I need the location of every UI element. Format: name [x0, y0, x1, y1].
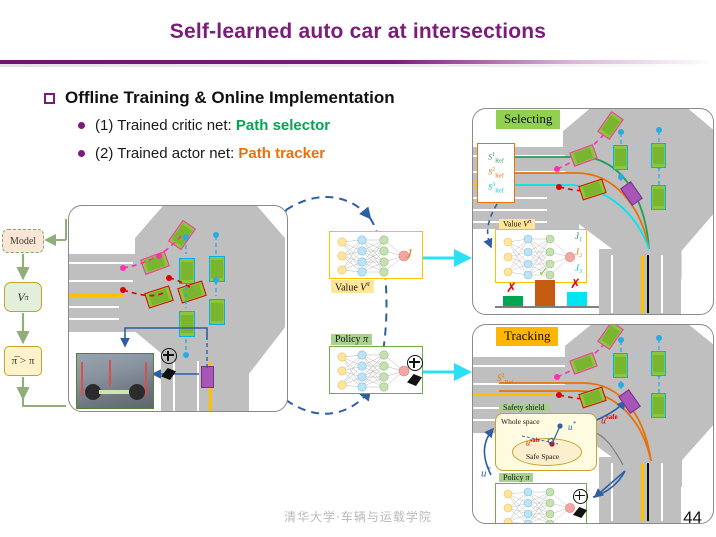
panel-selecting-label: Selecting: [496, 110, 560, 129]
selecting-value-net-label: Value Vπ: [499, 219, 535, 229]
steering-wheel-icon: [161, 348, 177, 364]
value-network-output-label: J: [406, 246, 412, 262]
value-network-label: Value Vπ: [331, 280, 374, 293]
policy-network-graph: [330, 347, 424, 395]
slide-root: Self-learned auto car at intersections O…: [0, 0, 716, 537]
reference-path-1: S1Ref: [488, 152, 504, 164]
policy-network-box: [329, 346, 423, 394]
reference-path-list: S1Ref S2Ref S3Ref: [477, 143, 515, 203]
vehicle-icon: [613, 145, 628, 170]
selecting-output-j1: J₁: [575, 231, 582, 241]
policy-network-label: Policy π: [331, 334, 372, 345]
bar-candidate-3: [567, 292, 587, 306]
u-safe-label: usafe: [601, 413, 618, 426]
panel-left-intersection: [68, 205, 288, 412]
vehicle-photo: [76, 353, 154, 409]
panel-selecting: S1Ref S2Ref S3Ref Value Vπ: [472, 108, 714, 315]
vehicle-icon: [651, 393, 666, 418]
bar-chart-baseline: [495, 306, 599, 308]
selecting-output-j2: J₂: [575, 247, 582, 257]
accept-mark-2: ✓: [538, 265, 549, 280]
u-star-label: u*: [481, 465, 491, 480]
reject-mark-3: ✗: [570, 277, 581, 292]
steering-wheel-icon: [407, 355, 423, 371]
panel-tracking-label: Tracking: [496, 327, 558, 346]
page-number: 44: [683, 508, 702, 528]
tracking-policy-net-label: Policy π: [499, 473, 533, 482]
selecting-output-j3: J₃: [575, 263, 582, 273]
vehicle-icon: [651, 351, 666, 376]
panel-tracking: S2Ref usafe u* Safety shield Whole space…: [472, 324, 714, 524]
reject-mark-1: ✗: [506, 281, 517, 296]
footer-text: 清华大学·车辆与运载学院: [0, 508, 716, 525]
safety-shield-box: Whole space Safe Space usafe u*: [495, 413, 597, 471]
bar-candidate-2: [535, 280, 555, 306]
safety-shield-label: Safety shield: [499, 403, 549, 412]
safety-shield-vectors: [496, 414, 596, 470]
vehicle-icon: [613, 353, 628, 378]
vehicle-icon: [651, 143, 666, 168]
steering-wheel-icon: [573, 489, 588, 504]
reference-path-3: S3Ref: [488, 182, 504, 194]
vehicle-icon: [651, 185, 666, 210]
tracking-reference-path-label: S2Ref: [497, 373, 513, 386]
reference-path-2: S2Ref: [488, 167, 504, 179]
bar-candidate-1: [503, 296, 523, 306]
